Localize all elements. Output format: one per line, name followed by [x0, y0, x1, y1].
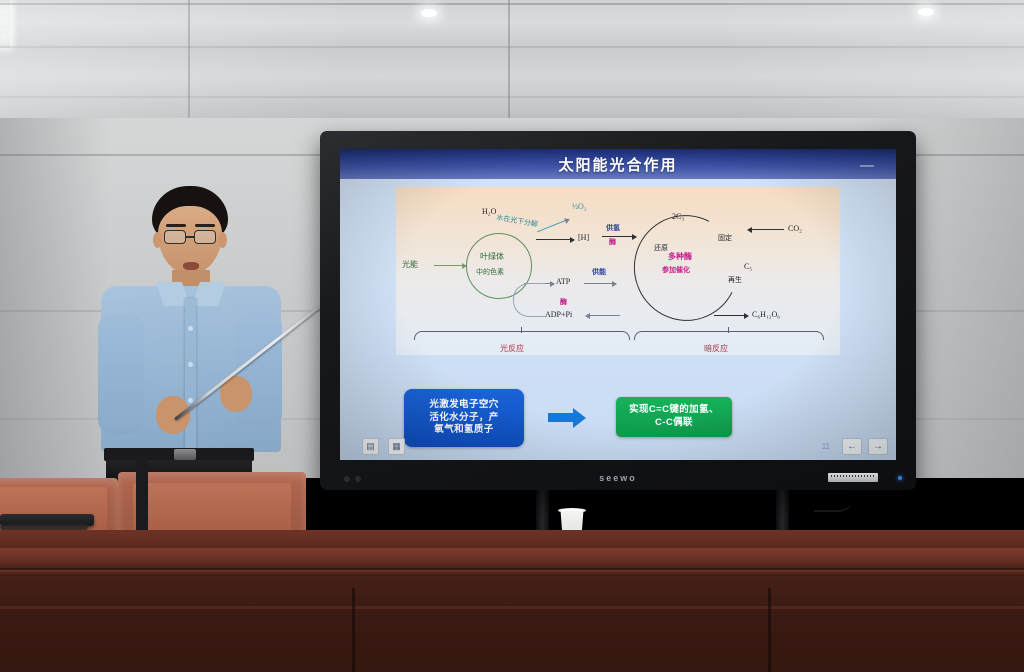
presenter-mouth [183, 262, 199, 270]
label-many-enzymes-line1: 多种酶 [668, 253, 692, 261]
power-led-icon [898, 476, 902, 480]
slide-page-number: 11 [822, 442, 830, 451]
label-2c3: 2C₃ [672, 213, 684, 221]
toolbar-icon-2: ▦ [392, 441, 401, 452]
callout-green[interactable]: 实现C=C键的加氢、 C-C偶联 [616, 397, 732, 437]
display-brand-logo: seewo [599, 473, 637, 483]
chair-post [136, 455, 148, 537]
arrow-right-icon: → [873, 441, 883, 452]
ceiling [0, 0, 1024, 122]
toolbar-button-1[interactable]: ▤ [362, 438, 379, 455]
label-enzyme-1: 酶 [609, 239, 616, 246]
callout-blue[interactable]: 光激发电子空穴 活化水分子，产 氧气和氢质子 [404, 389, 524, 447]
lecture-hall-photo: 太阳能光合作用 光能 叶绿体 中的色素 H₂O [0, 0, 1024, 672]
ceiling-downlight [0, 18, 10, 24]
photosynthesis-diagram: 光能 叶绿体 中的色素 H₂O 水在光下分解 ½O₂ [H] [396, 187, 840, 355]
arrow-back-to-adp [586, 315, 620, 316]
display-stand-leg [776, 486, 789, 536]
arrow-to-glucose [714, 315, 748, 316]
bezel-spec-sticker [828, 473, 878, 482]
display-screen[interactable]: 太阳能光合作用 光能 叶绿体 中的色素 H₂O [340, 149, 896, 460]
presentation-slide[interactable]: 太阳能光合作用 光能 叶绿体 中的色素 H₂O [340, 149, 896, 460]
ceiling-downlight [0, 42, 10, 48]
toolbar-button-2[interactable]: ▦ [388, 438, 405, 455]
prev-slide-button[interactable]: ← [842, 438, 862, 455]
arrow-atp-supply [584, 283, 616, 284]
slide-title-bar: 太阳能光合作用 [340, 149, 896, 179]
presenter-glasses [194, 230, 216, 244]
toolbar-icon-1: ▤ [366, 441, 375, 452]
presenter-ear [153, 232, 162, 248]
brace-dark-reaction [634, 331, 824, 340]
callout-blue-line3: 氧气和氢质子 [434, 424, 493, 437]
label-water: H₂O [482, 208, 496, 216]
ceiling-downlight [421, 9, 437, 17]
label-enzyme-2: 酶 [560, 299, 567, 306]
label-glucose: C₆H₁₂O₆ [752, 311, 780, 319]
label-supply-hydrogen: 供氢 [606, 225, 620, 232]
label-co2: CO₂ [788, 225, 802, 233]
arrow-left-icon: ← [847, 441, 857, 452]
next-slide-button[interactable]: → [868, 438, 888, 455]
label-dark-reaction: 暗反应 [704, 345, 728, 353]
ceiling-downlight [0, 12, 10, 18]
title-bar-mark [860, 165, 874, 167]
label-adp: ADP+Pi [545, 311, 572, 319]
arrow-co2-in [748, 229, 784, 230]
label-water-photolysis: 水在光下分解 [496, 214, 539, 228]
ceiling-downlight [0, 36, 10, 42]
presenter [96, 186, 306, 478]
callout-green-line1: 实现C=C键的加氢、 [629, 404, 719, 417]
arrow-water-to-oxygen [537, 219, 569, 233]
presenter-hand-left [156, 396, 190, 434]
label-atp: ATP [556, 278, 570, 286]
ceiling-downlight [0, 30, 10, 36]
arrow-hydrogen-to-cycle [602, 236, 636, 237]
arrow-to-hydrogen [536, 239, 574, 240]
label-light-reaction: 光反应 [500, 345, 524, 353]
presenter-glasses [164, 230, 186, 244]
label-chloroplast-line1: 叶绿体 [480, 253, 504, 261]
ceiling-downlight [918, 8, 934, 16]
display-stand-leg [536, 486, 549, 536]
label-hydrogen-carrier: [H] [578, 234, 589, 242]
presenter-arm-right [236, 312, 282, 428]
label-oxygen: ½O₂ [572, 203, 587, 211]
interactive-flat-panel[interactable]: 太阳能光合作用 光能 叶绿体 中的色素 H₂O [320, 131, 916, 490]
brace-light-reaction [414, 331, 630, 340]
presenter-arm-left [98, 314, 144, 434]
front-desk [0, 548, 1024, 672]
flow-arrow-icon [548, 413, 574, 422]
callout-blue-line1: 光激发电子空穴 [429, 399, 498, 412]
label-chloroplast-line2: 中的色素 [476, 269, 504, 276]
label-light-energy: 光能 [402, 261, 418, 269]
slide-title: 太阳能光合作用 [558, 154, 677, 175]
arrow-light-to-chloroplast [434, 265, 466, 266]
presenter-ear [218, 232, 227, 248]
callout-green-line2: C-C偶联 [655, 417, 693, 430]
label-reduction: 还原 [654, 245, 668, 252]
ceiling-downlight [0, 24, 10, 30]
label-supply-energy: 供能 [592, 269, 606, 276]
ceiling-downlight [0, 6, 10, 12]
label-fixation-1: 固定 [718, 235, 732, 242]
atp-cycle-curve [513, 283, 545, 317]
label-many-enzymes-line2: 参加催化 [662, 267, 690, 274]
label-regeneration: 再生 [728, 277, 742, 284]
bezel-control-keys[interactable] [344, 476, 361, 482]
callout-blue-line2: 活化水分子，产 [429, 412, 498, 425]
ceiling-downlight [0, 0, 10, 6]
label-c5: C₅ [744, 263, 752, 271]
